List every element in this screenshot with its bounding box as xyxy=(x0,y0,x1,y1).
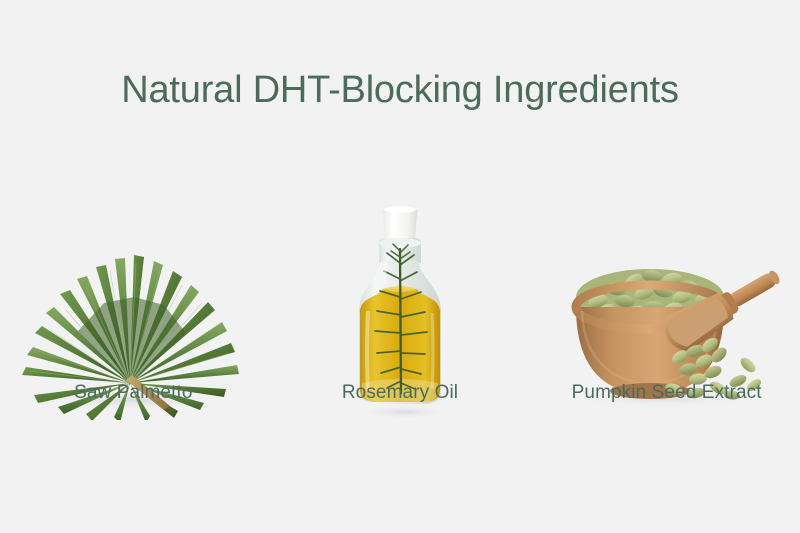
ingredient-label-rosemary-oil: Rosemary Oil xyxy=(267,382,533,404)
ingredient-label-saw-palmetto: Saw Palmetto xyxy=(0,382,266,404)
page-title: Natural DHT-Blocking Ingredients xyxy=(0,70,800,112)
ingredient-label-pumpkin-seed: Pumpkin Seed Extract xyxy=(534,382,800,404)
ingredient-label-row: Saw Palmetto Rosemary Oil Pumpkin Seed E… xyxy=(0,378,800,408)
ingredients-infographic: Natural DHT-Blocking Ingredients xyxy=(0,0,800,533)
